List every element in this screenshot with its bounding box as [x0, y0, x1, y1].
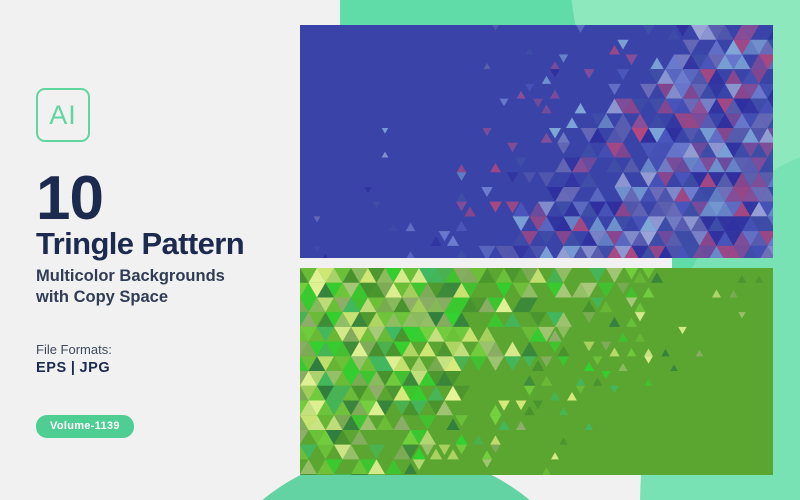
blue-triangle-preview[interactable] [300, 25, 773, 258]
poster-canvas: AI 10 Tringle Pattern Multicolor Backgro… [0, 0, 800, 500]
file-format-eps: EPS [36, 360, 67, 376]
blue-triangle-pattern [300, 25, 773, 258]
ai-file-icon-label: AI [49, 102, 77, 129]
page-subtitle: Multicolor Backgrounds with Copy Space [36, 266, 286, 308]
green-triangle-pattern [300, 268, 773, 475]
page-subtitle-line-1: Multicolor Backgrounds [36, 266, 286, 287]
ai-file-icon: AI [36, 88, 90, 142]
page-subtitle-line-2: with Copy Space [36, 287, 286, 308]
green-triangle-preview[interactable] [300, 268, 773, 475]
page-title: Tringle Pattern [36, 228, 244, 261]
volume-badge: Volume-1139 [36, 415, 134, 438]
info-column: AI 10 Tringle Pattern Multicolor Backgro… [36, 0, 286, 500]
file-formats-label: File Formats: [36, 342, 112, 357]
mint-top-strip-decoration [340, 0, 800, 26]
pack-count: 10 [36, 168, 103, 230]
file-format-jpg: JPG [80, 360, 111, 376]
file-formats-value: EPS|JPG [36, 360, 110, 376]
file-format-separator: | [71, 360, 76, 376]
